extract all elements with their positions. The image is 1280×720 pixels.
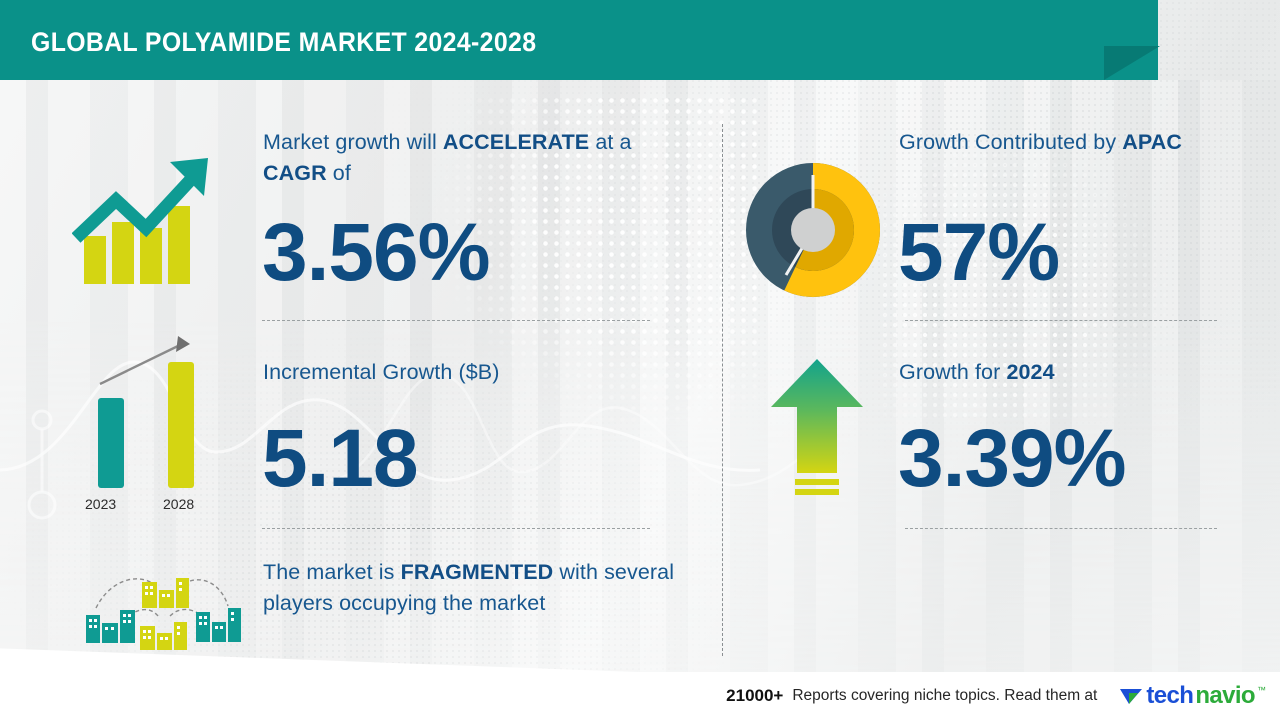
fragmented-caption: The market is FRAGMENTED with several pl…: [263, 557, 683, 619]
up-arrow-icon: [767, 355, 867, 505]
two-bar-chart-icon: [78, 330, 228, 520]
divider-left-2: [262, 528, 650, 529]
donut-chart-icon: [746, 163, 880, 297]
bar-label-2023: 2023: [85, 496, 116, 512]
incremental-value: 5.18: [262, 418, 418, 500]
divider-left-1: [262, 320, 650, 321]
fragmented-caption-bold-1: FRAGMENTED: [401, 560, 554, 584]
bar-label-2028: 2028: [163, 496, 194, 512]
divider-right-2: [905, 528, 1217, 529]
cagr-caption: Market growth will ACCELERATE at a CAGR …: [263, 127, 683, 189]
footer-angled-edge: [0, 646, 700, 672]
logo-text-navio: navio: [1195, 682, 1255, 710]
growth-2024-caption-text-1: Growth for: [899, 360, 1006, 384]
cagr-caption-text-2: at a: [589, 130, 631, 154]
logo-text-tech: tech: [1146, 682, 1193, 710]
apac-caption-bold-1: APAC: [1122, 130, 1182, 154]
page-title: GLOBAL POLYAMIDE MARKET 2024-2028: [31, 27, 536, 58]
incremental-caption: Incremental Growth ($B): [263, 357, 663, 388]
divider-right-1: [905, 320, 1217, 321]
footer-report-count: 21000+: [726, 686, 783, 706]
vertical-divider: [722, 124, 723, 656]
growth-chart-icon: [72, 148, 227, 288]
cagr-caption-text-1: Market growth will: [263, 130, 443, 154]
technavio-mark-icon: [1118, 684, 1144, 708]
apac-caption: Growth Contributed by APAC: [899, 127, 1219, 158]
footer-content: 21000+ Reports covering niche topics. Re…: [726, 672, 1266, 720]
cagr-caption-bold-1: ACCELERATE: [443, 130, 589, 154]
footer-text: Reports covering niche topics. Read them…: [792, 687, 1097, 705]
infographic-canvas: GLOBAL POLYAMIDE MARKET 2024-2028 Market…: [0, 0, 1280, 720]
city-clusters-icon: [78, 560, 243, 660]
technavio-logo[interactable]: technavio ™: [1118, 682, 1266, 710]
fragmented-caption-text-1: The market is: [263, 560, 401, 584]
cagr-caption-text-3: of: [327, 161, 351, 185]
apac-value: 57%: [898, 212, 1059, 294]
logo-trademark: ™: [1257, 685, 1266, 695]
growth-2024-caption: Growth for 2024: [899, 357, 1219, 388]
growth-2024-caption-bold-1: 2024: [1006, 360, 1054, 384]
cagr-caption-bold-2: CAGR: [263, 161, 327, 185]
cagr-value: 3.56%: [262, 212, 490, 294]
growth-2024-value: 3.39%: [898, 418, 1126, 500]
apac-caption-text-1: Growth Contributed by: [899, 130, 1122, 154]
